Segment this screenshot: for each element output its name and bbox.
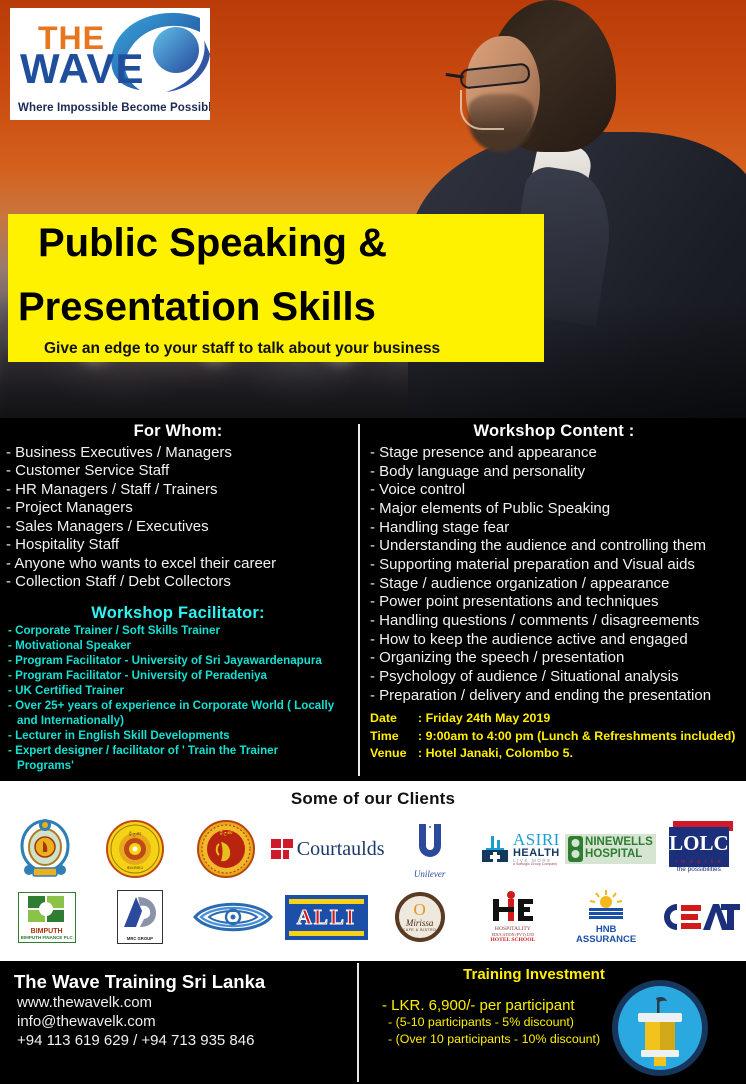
client-logo-bimputh-finance: BIMPUTH BIMPUTH FINANCE PLC bbox=[0, 885, 93, 949]
investment-block: Training Investment - LKR. 6,900/- per p… bbox=[362, 966, 746, 1049]
facilitator-item-continuation: and Internationally) bbox=[8, 713, 356, 728]
asiri-sublabel3: a Softlogic Group Company bbox=[513, 863, 560, 867]
lolc-sublabel: i m a g i n e bbox=[669, 859, 729, 865]
workshop-content-item: - Stage presence and appearance bbox=[362, 444, 746, 463]
workshop-content-item: - Power point presentations and techniqu… bbox=[362, 593, 746, 612]
lolc-label: LOLC bbox=[669, 831, 729, 856]
event-detail-value: : Friday 24th May 2019 bbox=[418, 710, 550, 728]
for-whom-item: - Collection Staff / Debt Collectors bbox=[0, 573, 356, 591]
client-logo-unilever: Unilever bbox=[385, 815, 475, 883]
client-logo-row-1: ශ්‍රී ලංකා ආයතනය ශ්‍රී ලංකා bbox=[0, 815, 746, 883]
clients-heading: Some of our Clients bbox=[0, 781, 746, 809]
for-whom-item: - Project Managers bbox=[0, 499, 356, 517]
facilitator-item: - Expert designer / facilitator of ' Tra… bbox=[0, 743, 356, 773]
facilitator-item: - Over 25+ years of experience in Corpor… bbox=[0, 698, 356, 728]
workshop-content-item: - How to keep the audience active and en… bbox=[362, 631, 746, 650]
workshop-content-list: - Stage presence and appearance- Body la… bbox=[362, 444, 746, 705]
courtaulds-label: Courtaulds bbox=[297, 838, 385, 861]
client-logo-hospitality-hotel-school: HOSPITALITY EDUCATION (PVT) LTD HOTEL SC… bbox=[466, 885, 559, 949]
workshop-content-item: - Handling questions / comments / disagr… bbox=[362, 612, 746, 631]
contact-block: The Wave Training Sri Lanka www.thewavel… bbox=[14, 970, 350, 1051]
facilitator-item: - UK Certified Trainer bbox=[0, 683, 356, 698]
workshop-content-heading: Workshop Content : bbox=[362, 422, 746, 441]
facilitator-list: - Corporate Trainer / Soft Skills Traine… bbox=[0, 623, 356, 773]
client-logo-asiri-health: ASIRI HEALTH LIVE MORE a Softlogic Group… bbox=[475, 815, 565, 883]
workshop-content-item: - Supporting material preparation and Vi… bbox=[362, 556, 746, 575]
email-link[interactable]: info@thewavelk.com bbox=[14, 1013, 350, 1032]
mrc-sublabel: MRC GROUP bbox=[120, 936, 160, 941]
mirissa-sublabel: CAFE & BISTRO bbox=[403, 928, 437, 932]
title-banner: Public Speaking & Presentation Skills Gi… bbox=[8, 214, 544, 362]
for-whom-item: - HR Managers / Staff / Trainers bbox=[0, 481, 356, 499]
workshop-content-item: - Handling stage fear bbox=[362, 519, 746, 538]
event-detail-value: : 9:00am to 4:00 pm (Lunch & Refreshment… bbox=[418, 728, 735, 746]
mirissa-label: Mirissa bbox=[406, 918, 434, 928]
event-detail-row: Date: Friday 24th May 2019 bbox=[370, 710, 735, 728]
lolc-sublabel2: the possibilities bbox=[669, 866, 729, 873]
client-logo-lolc: LOLC i m a g i n e the possibilities bbox=[656, 815, 746, 883]
facilitator-heading: Workshop Facilitator: bbox=[0, 604, 356, 623]
flyer-poster: THE WAVE Where Impossible Become Possibl… bbox=[0, 0, 746, 1084]
poster-title-line2: Presentation Skills bbox=[18, 287, 376, 328]
facilitator-item-continuation: Programs' bbox=[8, 758, 356, 773]
for-whom-item: - Sales Managers / Executives bbox=[0, 518, 356, 536]
client-logo-ninewells-hospital: NINEWELLS HOSPITAL bbox=[565, 815, 656, 883]
client-logo-mrc-group: MRC GROUP bbox=[93, 885, 186, 949]
workshop-content-item: - Preparation / delivery and ending the … bbox=[362, 687, 746, 706]
bimputh-label: BIMPUTH bbox=[21, 928, 73, 935]
client-logo-row-2: BIMPUTH BIMPUTH FINANCE PLC MRC GROUP bbox=[0, 885, 746, 949]
company-logo[interactable]: THE WAVE Where Impossible Become Possibl… bbox=[10, 8, 210, 120]
client-logo-hnb-assurance: HNB ASSURANCE bbox=[560, 885, 653, 949]
podium-speaker-icon bbox=[612, 980, 708, 1076]
asiri-label: ASIRI bbox=[513, 831, 560, 848]
client-logo-sri-lanka-seal-yellow: ශ්‍රී ලංකා ආයතනය bbox=[90, 815, 180, 883]
event-detail-row: Time: 9:00am to 4:00 pm (Lunch & Refresh… bbox=[370, 728, 735, 746]
for-whom-heading: For Whom: bbox=[0, 422, 356, 441]
workshop-content-item: - Understanding the audience and control… bbox=[362, 537, 746, 556]
event-detail-key: Date bbox=[370, 710, 418, 728]
workshop-content-item: - Psychology of audience / Situational a… bbox=[362, 668, 746, 687]
right-column: Workshop Content : - Stage presence and … bbox=[362, 422, 746, 705]
alli-label: ALLI bbox=[289, 904, 364, 931]
event-detail-value: : Hotel Janaki, Colombo 5. bbox=[418, 745, 573, 763]
poster-subtitle: Give an edge to your staff to talk about… bbox=[44, 340, 440, 358]
poster-title-line1: Public Speaking & bbox=[38, 223, 387, 264]
client-logo-eye-swirl bbox=[187, 885, 280, 949]
organisation-name: The Wave Training Sri Lanka bbox=[14, 970, 350, 994]
website-link[interactable]: www.thewavelk.com bbox=[14, 994, 350, 1013]
workshop-content-item: - Organizing the speech / presentation bbox=[362, 649, 746, 668]
for-whom-item: - Business Executives / Managers bbox=[0, 444, 356, 462]
workshop-content-item: - Stage / audience organization / appear… bbox=[362, 575, 746, 594]
client-logo-sri-lanka-lion-seal: ශ්‍රී ලංකා bbox=[181, 815, 271, 883]
clients-section: Some of our Clients bbox=[0, 781, 746, 961]
event-details: Date: Friday 24th May 2019Time: 9:00am t… bbox=[370, 710, 735, 763]
phone-numbers[interactable]: +94 113 619 629 / +94 713 935 846 bbox=[14, 1032, 350, 1051]
client-logo-sri-lanka-government-emblem bbox=[0, 815, 90, 883]
client-logo-courtaulds: Courtaulds bbox=[271, 815, 385, 883]
left-column: For Whom: - Business Executives / Manage… bbox=[0, 422, 356, 773]
hotel-school-label: HOTEL SCHOOL bbox=[490, 937, 535, 943]
facilitator-item: - Motivational Speaker bbox=[0, 638, 356, 653]
workshop-content-item: - Body language and personality bbox=[362, 463, 746, 482]
client-logo-alli: ALLI bbox=[280, 885, 373, 949]
facilitator-item: - Program Facilitator - University of Pe… bbox=[0, 668, 356, 683]
bimputh-sublabel: BIMPUTH FINANCE PLC bbox=[21, 935, 73, 940]
column-divider bbox=[358, 424, 360, 776]
unilever-label: Unilever bbox=[410, 869, 450, 879]
for-whom-list: - Business Executives / Managers- Custom… bbox=[0, 444, 356, 592]
workshop-content-item: - Major elements of Public Speaking bbox=[362, 500, 746, 519]
for-whom-item: - Hospitality Staff bbox=[0, 536, 356, 554]
facilitator-item: - Lecturer in English Skill Developments bbox=[0, 728, 356, 743]
workshop-content-item: - Voice control bbox=[362, 481, 746, 500]
logo-tagline: Where Impossible Become Possible bbox=[18, 102, 210, 114]
facilitator-item: - Corporate Trainer / Soft Skills Traine… bbox=[0, 623, 356, 638]
event-detail-row: Venue: Hotel Janaki, Colombo 5. bbox=[370, 745, 735, 763]
ninewells-sublabel: HOSPITAL bbox=[585, 849, 653, 861]
hnb-sublabel: ASSURANCE bbox=[576, 935, 636, 945]
event-detail-key: Venue bbox=[370, 745, 418, 763]
for-whom-item: - Anyone who wants to excel their career bbox=[0, 555, 356, 573]
client-logo-ceat bbox=[653, 885, 746, 949]
logo-text-wave: WAVE bbox=[20, 48, 145, 90]
client-logo-mirissa-cafe: O Mirissa CAFE & BISTRO bbox=[373, 885, 466, 949]
for-whom-item: - Customer Service Staff bbox=[0, 462, 356, 480]
facilitator-item: - Program Facilitator - University of Sr… bbox=[0, 653, 356, 668]
event-detail-key: Time bbox=[370, 728, 418, 746]
